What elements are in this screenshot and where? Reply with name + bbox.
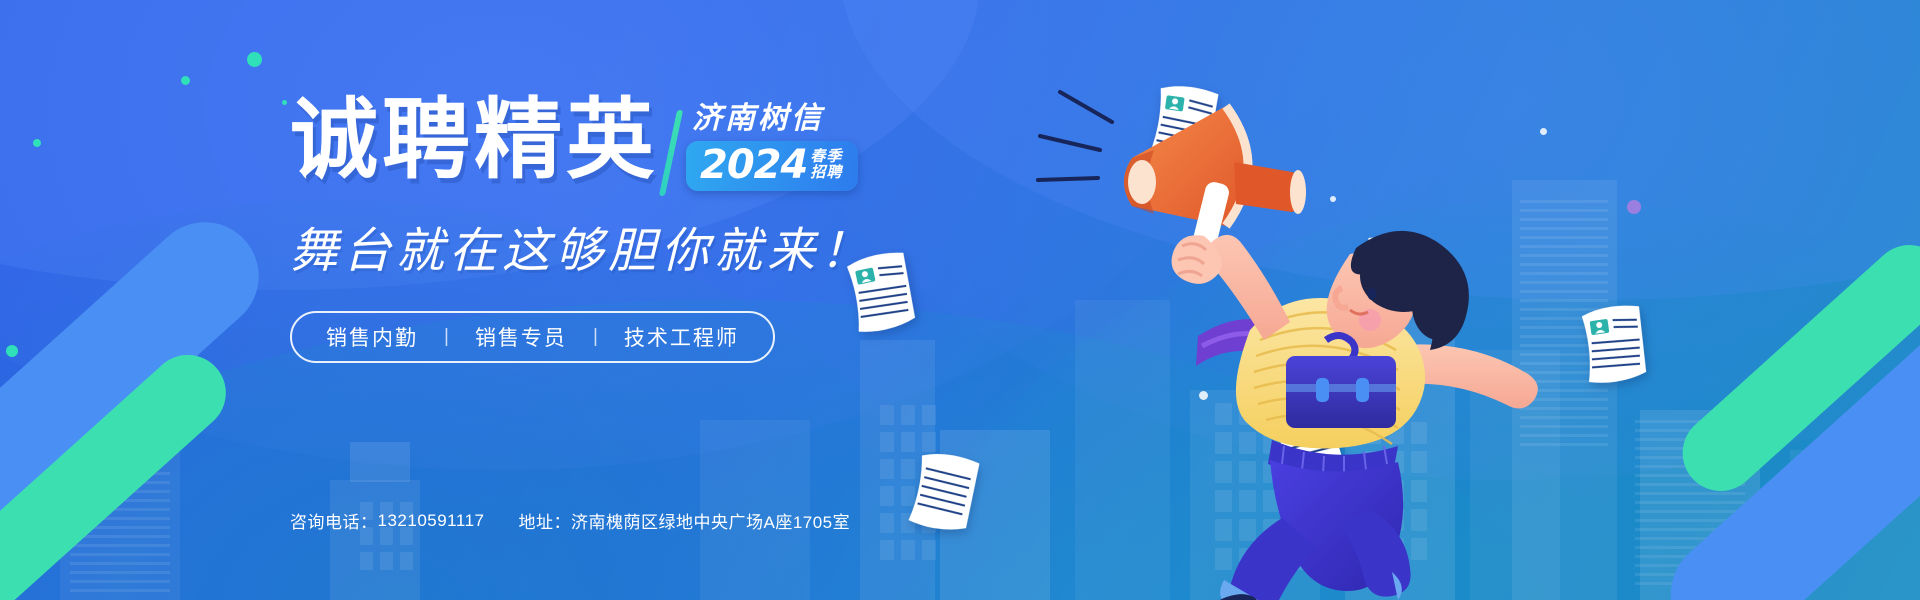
tag-separator: |	[593, 326, 598, 348]
job-tag-2[interactable]: 技术工程师	[624, 322, 739, 352]
brand-badge-group: 济南树信 2024 春季 招聘	[674, 96, 858, 191]
phone-label: 咨询电话：	[290, 508, 378, 533]
subtitle: 舞台就在这够胆你就来！	[290, 211, 1050, 281]
page-title: 诚聘精英	[290, 96, 658, 184]
building-top	[350, 442, 410, 482]
teal-slash-accent	[659, 110, 683, 196]
decor-dot-purple	[1627, 200, 1641, 214]
job-tags-group: 销售内勤 | 销售专员 | 技术工程师	[290, 311, 775, 363]
badge-sub-line1: 春季	[810, 149, 842, 165]
text-content: 诚聘精英 济南树信 2024 春季 招聘 舞台就在这够胆你就来！ 销售内勤 | …	[290, 96, 1050, 363]
job-tag-1[interactable]: 销售专员	[475, 322, 567, 352]
address-label: 地址：	[518, 508, 571, 533]
contact-info: 咨询电话： 13210591117 地址： 济南槐荫区绿地中央广场A座1705室	[290, 508, 850, 533]
phone-value[interactable]: 13210591117	[378, 511, 485, 531]
job-tag-0[interactable]: 销售内勤	[326, 322, 418, 352]
decor-dot-teal	[181, 76, 190, 85]
eye	[1368, 288, 1377, 300]
badge-sub-line2: 招聘	[810, 165, 842, 181]
floating-paper-icon	[1572, 295, 1658, 392]
decor-dot-teal	[33, 139, 41, 147]
address-value: 济南槐荫区绿地中央广场A座1705室	[571, 508, 850, 533]
megaphone-icon	[1124, 106, 1306, 260]
tag-separator: |	[444, 326, 449, 348]
badge-year: 2024	[700, 145, 807, 185]
badge-subtext: 春季 招聘	[810, 149, 842, 181]
season-badge: 2024 春季 招聘	[686, 141, 858, 191]
floating-paper-icon	[901, 442, 989, 542]
headline-row: 诚聘精英 济南树信 2024 春季 招聘	[290, 96, 1050, 191]
hero-illustration	[1020, 40, 1580, 600]
decor-dot-teal	[247, 52, 262, 67]
decor-dot-teal	[6, 345, 18, 357]
cheek	[1359, 309, 1381, 331]
decor-dot-teal	[282, 100, 287, 105]
company-name: 济南树信	[692, 102, 858, 135]
recruitment-banner: 诚聘精英 济南树信 2024 春季 招聘 舞台就在这够胆你就来！ 销售内勤 | …	[0, 0, 1920, 600]
